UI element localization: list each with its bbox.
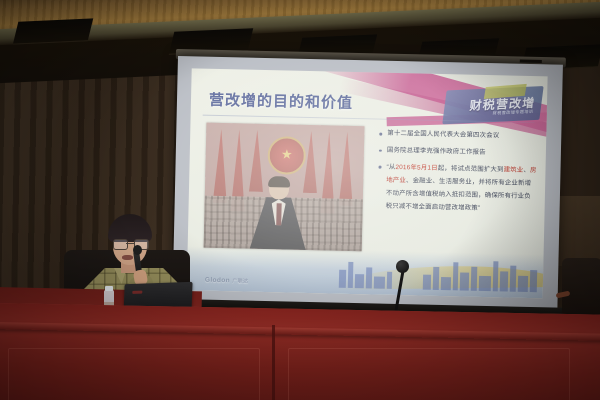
skyline-building — [453, 262, 459, 290]
microphone-head-icon — [133, 245, 142, 255]
glasses-icon — [113, 239, 147, 248]
glasses-bridge — [126, 243, 134, 244]
water-bottle-cap — [105, 286, 113, 291]
skyline-building — [471, 267, 478, 291]
skyline-building — [510, 266, 517, 292]
presenter-hair — [108, 214, 152, 242]
skyline-building — [441, 277, 451, 290]
ceiling-light-panel — [13, 18, 93, 44]
skyline-building — [387, 272, 392, 289]
skyline-building — [423, 275, 431, 290]
skyline-building — [366, 267, 372, 288]
skyline-building — [479, 276, 491, 291]
slide-skyline-graphic — [187, 246, 544, 298]
skyline-building — [493, 261, 499, 291]
slide-title: 营改增的目的和价值 — [209, 89, 353, 113]
projector-screen: 财税营改增 财税营改增专题培训 营改增的目的和价值 ★ — [172, 56, 563, 312]
bullet-item: 第十二届全国人民代表大会第四次会议 — [378, 129, 538, 142]
podium-panel-inset — [8, 348, 260, 400]
skyline-building — [355, 274, 364, 288]
slide-bullet-list: 第十二届全国人民代表大会第四次会议 国务院总理李克强作政府工作报告 “从2016… — [376, 129, 538, 224]
quote-tail: 、金融业、生活服务业，并将所有企业新增不动产所含增值税纳入抵扣范围，确保所有行业… — [386, 177, 532, 211]
logo-latin-text: Glodon — [205, 277, 230, 285]
skyline-building — [460, 272, 469, 290]
podium-panel-inset — [288, 348, 570, 400]
skyline-building — [433, 267, 440, 290]
photo-projection-washout — [204, 123, 365, 252]
quote-prefix: “从 — [386, 164, 395, 171]
podium-panel-seam — [272, 325, 275, 400]
screenshot-root: 财税营改增 财税营改增专题培训 营改增的目的和价值 ★ — [0, 0, 600, 400]
slide-footer-logo: Glodon 广联达 — [205, 277, 249, 285]
skyline-building — [518, 276, 528, 292]
side-chair — [562, 258, 600, 320]
microphone-stand-head-icon — [396, 260, 409, 273]
logo-chinese-text: 广联达 — [232, 278, 248, 284]
glasses-lens-left — [113, 239, 128, 250]
quote-highlight-date: 2016年5月1日 — [395, 164, 437, 172]
presenter-mouth — [122, 255, 133, 260]
quote-highlight-construction: 建筑业 — [504, 167, 524, 174]
skyline-building — [500, 271, 508, 291]
quote-after-date: 起，将试点范围扩大到 — [438, 165, 504, 173]
slide-photo: ★ — [204, 123, 365, 252]
laptop-lid-logo-icon — [132, 291, 142, 294]
skyline-building — [374, 277, 385, 289]
skyline-building — [348, 262, 354, 288]
skyline-building — [339, 270, 346, 288]
bullet-item-quote: “从2016年5月1日起，将试点范围扩大到建筑业、房地产业、金融业、生活服务业，… — [376, 162, 537, 217]
screen-housing-slot — [520, 60, 542, 63]
presentation-slide: 财税营改增 财税营改增专题培训 营改增的目的和价值 ★ — [187, 68, 548, 298]
bullet-item: 国务院总理李克强作政府工作报告 — [378, 145, 538, 158]
skyline-building — [530, 270, 537, 292]
